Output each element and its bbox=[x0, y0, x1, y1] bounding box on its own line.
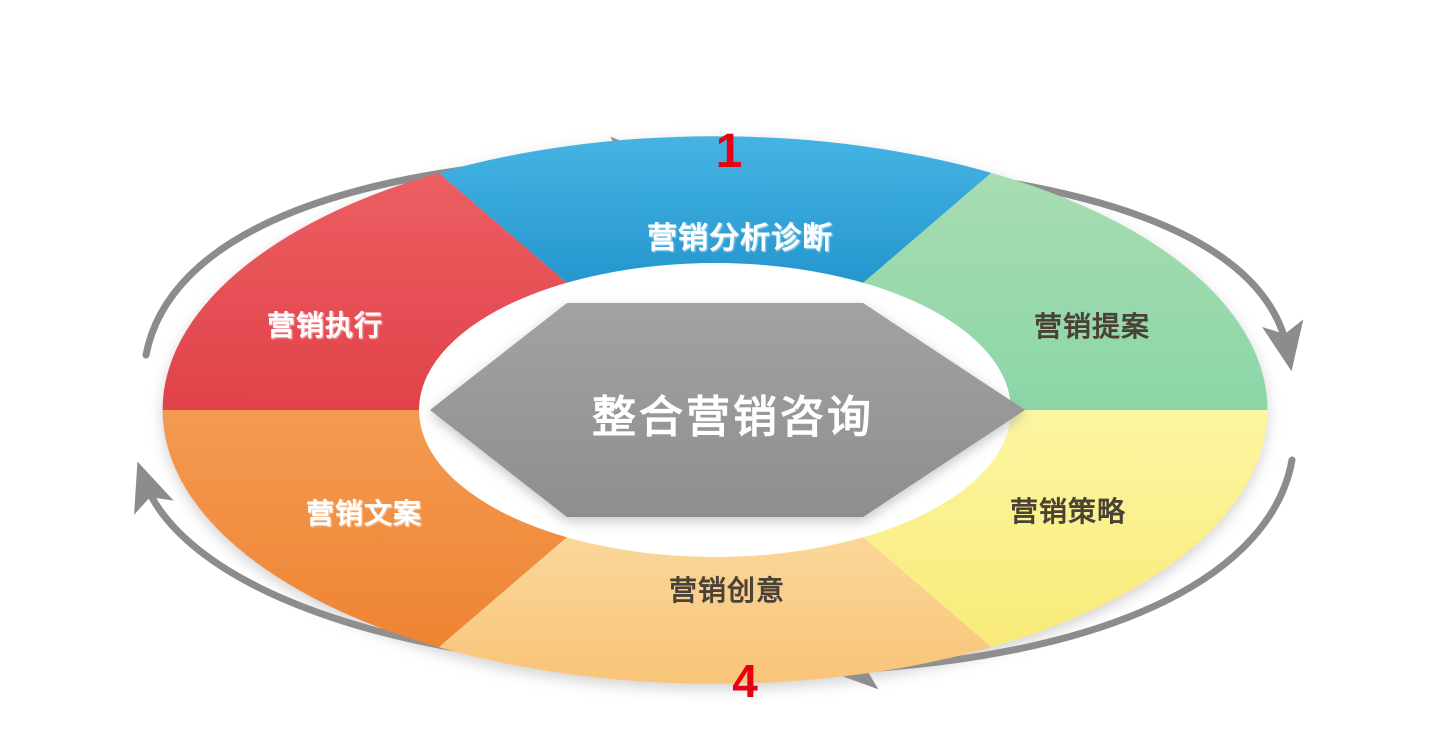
segment-label-strategy: 营销策略 bbox=[1010, 495, 1126, 527]
segment-label-proposal: 营销提案 bbox=[1034, 310, 1150, 342]
center-hexagon-label: 整合营销咨询 bbox=[592, 393, 874, 442]
segment-label-execution: 营销执行 bbox=[267, 309, 383, 341]
step-number-4: 4 bbox=[732, 655, 758, 707]
marketing-cycle-diagram: 营销分析诊断 营销提案 营销策略 营销创意 营销文案 营销执行 整合营销咨询 1… bbox=[0, 0, 1440, 735]
segment-label-creative: 营销创意 bbox=[669, 574, 785, 606]
segment-label-analysis: 营销分析诊断 bbox=[647, 222, 833, 255]
segment-label-copywriting: 营销文案 bbox=[306, 497, 422, 529]
step-number-1: 1 bbox=[716, 125, 743, 178]
diagram-canvas: 营销分析诊断 营销提案 营销策略 营销创意 营销文案 营销执行 整合营销咨询 1… bbox=[0, 0, 1440, 735]
